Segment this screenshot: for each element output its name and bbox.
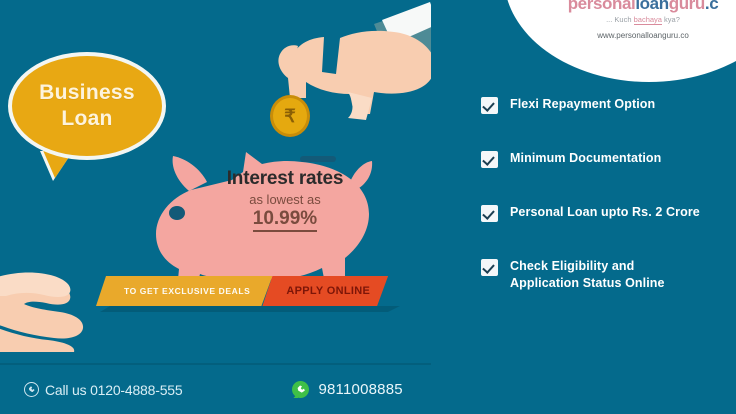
logo-part-tld: .c [705,0,718,13]
business-loan-bubble: Business Loan [8,52,166,160]
brand-logo[interactable]: personalloanguru.c ... Kuch bachaya kya?… [550,0,736,40]
phone-contact[interactable]: Call us 0120-4888-555 [24,382,182,398]
rupee-coin-icon: ₹ [270,95,310,137]
whatsapp-label: 9811008885 [318,381,402,398]
phone-icon [24,382,39,397]
tagline-post: kya? [662,15,680,24]
feature-label: Flexi Repayment Option [510,96,655,113]
exclusive-deals-label[interactable]: TO GET EXCLUSIVE DEALS [96,276,272,306]
bubble-text: Business Loan [39,80,135,133]
logo-part-loan: loan [635,0,668,13]
logo-part-guru: guru [669,0,705,13]
feature-item[interactable]: Check Eligibility and Application Status… [481,258,729,292]
interest-rate-heading: Interest rates [205,168,365,190]
ribbon-shadow [100,306,400,312]
logo-wordmark: personalloanguru.c [550,0,736,14]
rupee-symbol: ₹ [284,106,295,127]
apply-online-button[interactable]: APPLY ONLINE [262,276,388,306]
checkbox-checked-icon[interactable] [481,97,498,114]
hand-reaching-illustration [0,252,118,362]
whatsapp-contact[interactable]: 9811008885 [292,381,402,398]
tagline-highlight: bachaya [634,15,662,25]
bubble-line-2: Loan [39,106,135,132]
logo-part-personal: personal [568,0,636,13]
checkbox-checked-icon[interactable] [481,151,498,168]
whatsapp-icon [292,381,309,398]
website-url[interactable]: www.personalloanguru.co [550,31,736,40]
tagline-pre: ... Kuch [606,15,634,24]
feature-item[interactable]: Minimum Documentation [481,150,729,168]
feature-label: Check Eligibility and Application Status… [510,258,665,292]
features-checklist: Flexi Repayment Option Minimum Documenta… [481,96,729,328]
checkbox-checked-icon[interactable] [481,259,498,276]
contact-bar: Call us 0120-4888-555 9811008885 [0,365,736,414]
feature-item[interactable]: Personal Loan upto Rs. 2 Crore [481,204,729,222]
feature-label: Minimum Documentation [510,150,661,167]
interest-rate-block: Interest rates as lowest as 10.99% [205,168,365,232]
logo-tagline: ... Kuch bachaya kya? [550,15,736,24]
phone-label: Call us 0120-4888-555 [45,382,182,398]
interest-rate-value: 10.99% [253,208,317,232]
artwork-panel: ₹ Business Loan Interest rat [0,0,431,365]
feature-label: Personal Loan upto Rs. 2 Crore [510,204,700,221]
interest-rate-subtext: as lowest as [205,192,365,207]
bubble-line-1: Business [39,80,135,106]
checkbox-checked-icon[interactable] [481,205,498,222]
cta-ribbon[interactable]: TO GET EXCLUSIVE DEALS APPLY ONLINE [96,276,388,306]
promo-banner-screenshot: ₹ Business Loan Interest rat [0,0,736,414]
feature-item[interactable]: Flexi Repayment Option [481,96,729,114]
